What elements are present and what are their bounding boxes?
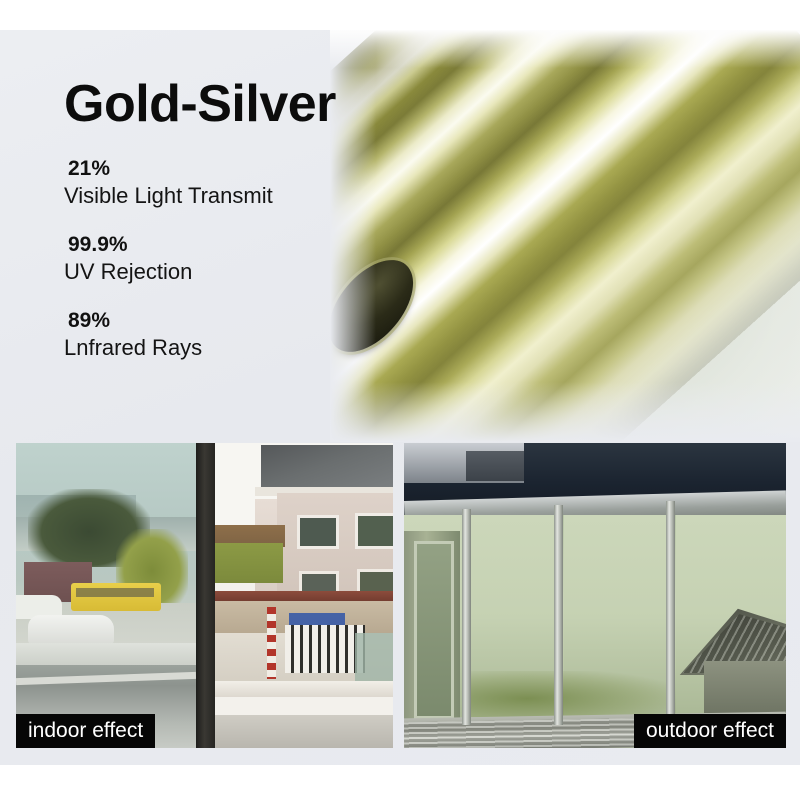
effect-photo-row: indoor effect (0, 443, 800, 749)
spec-uv-rejection: 99.9% UV Rejection (64, 232, 394, 286)
spec-label: Visible Light Transmit (64, 182, 394, 210)
indoor-scene (16, 443, 393, 748)
house-roof (261, 445, 393, 493)
outdoor-effect-caption: outdoor effect (634, 714, 786, 748)
hero-section: Gold-Silver 21% Visible Light Transmit 9… (0, 30, 800, 440)
house-window (355, 513, 393, 549)
tree-reflection (464, 671, 674, 717)
tinted-window-pane (16, 443, 196, 748)
spec-value: 99.9% (64, 232, 394, 258)
wall-reflection (704, 661, 786, 713)
house-window (297, 515, 339, 549)
white-fence (285, 625, 365, 673)
roll-fade-top (330, 30, 800, 68)
spec-value: 89% (64, 308, 394, 334)
facade-mullion (666, 501, 675, 725)
spec-infrared-rays: 89% Lnfrared Rays (64, 308, 394, 362)
balcony-rail (215, 681, 393, 697)
glass-door-inner (414, 541, 454, 719)
striped-pole (267, 607, 276, 679)
bus-windows (76, 588, 154, 597)
product-info-block: Gold-Silver 21% Visible Light Transmit 9… (64, 78, 394, 383)
spec-label: UV Rejection (64, 258, 394, 286)
spec-label: Lnfrared Rays (64, 334, 394, 362)
outdoor-scene (404, 443, 786, 748)
outdoor-effect-photo: outdoor effect (404, 443, 786, 748)
gold-film-roll-illustration (330, 30, 800, 442)
spec-value: 21% (64, 156, 394, 182)
grass-patch (215, 543, 283, 583)
untinted-window-pane (215, 443, 393, 748)
soffit-duct (466, 451, 524, 481)
product-image-canvas: Gold-Silver 21% Visible Light Transmit 9… (0, 0, 800, 800)
indoor-effect-photo: indoor effect (16, 443, 393, 748)
facade-mullion (554, 505, 563, 725)
product-title: Gold-Silver (64, 78, 394, 130)
spec-visible-light-transmit: 21% Visible Light Transmit (64, 156, 394, 210)
white-car-front (28, 615, 114, 645)
balcony-floor (215, 715, 393, 748)
indoor-effect-caption: indoor effect (16, 714, 155, 748)
facade-mullion (462, 509, 471, 725)
roll-fade-bottom (330, 382, 800, 442)
window-mullion (196, 443, 215, 748)
